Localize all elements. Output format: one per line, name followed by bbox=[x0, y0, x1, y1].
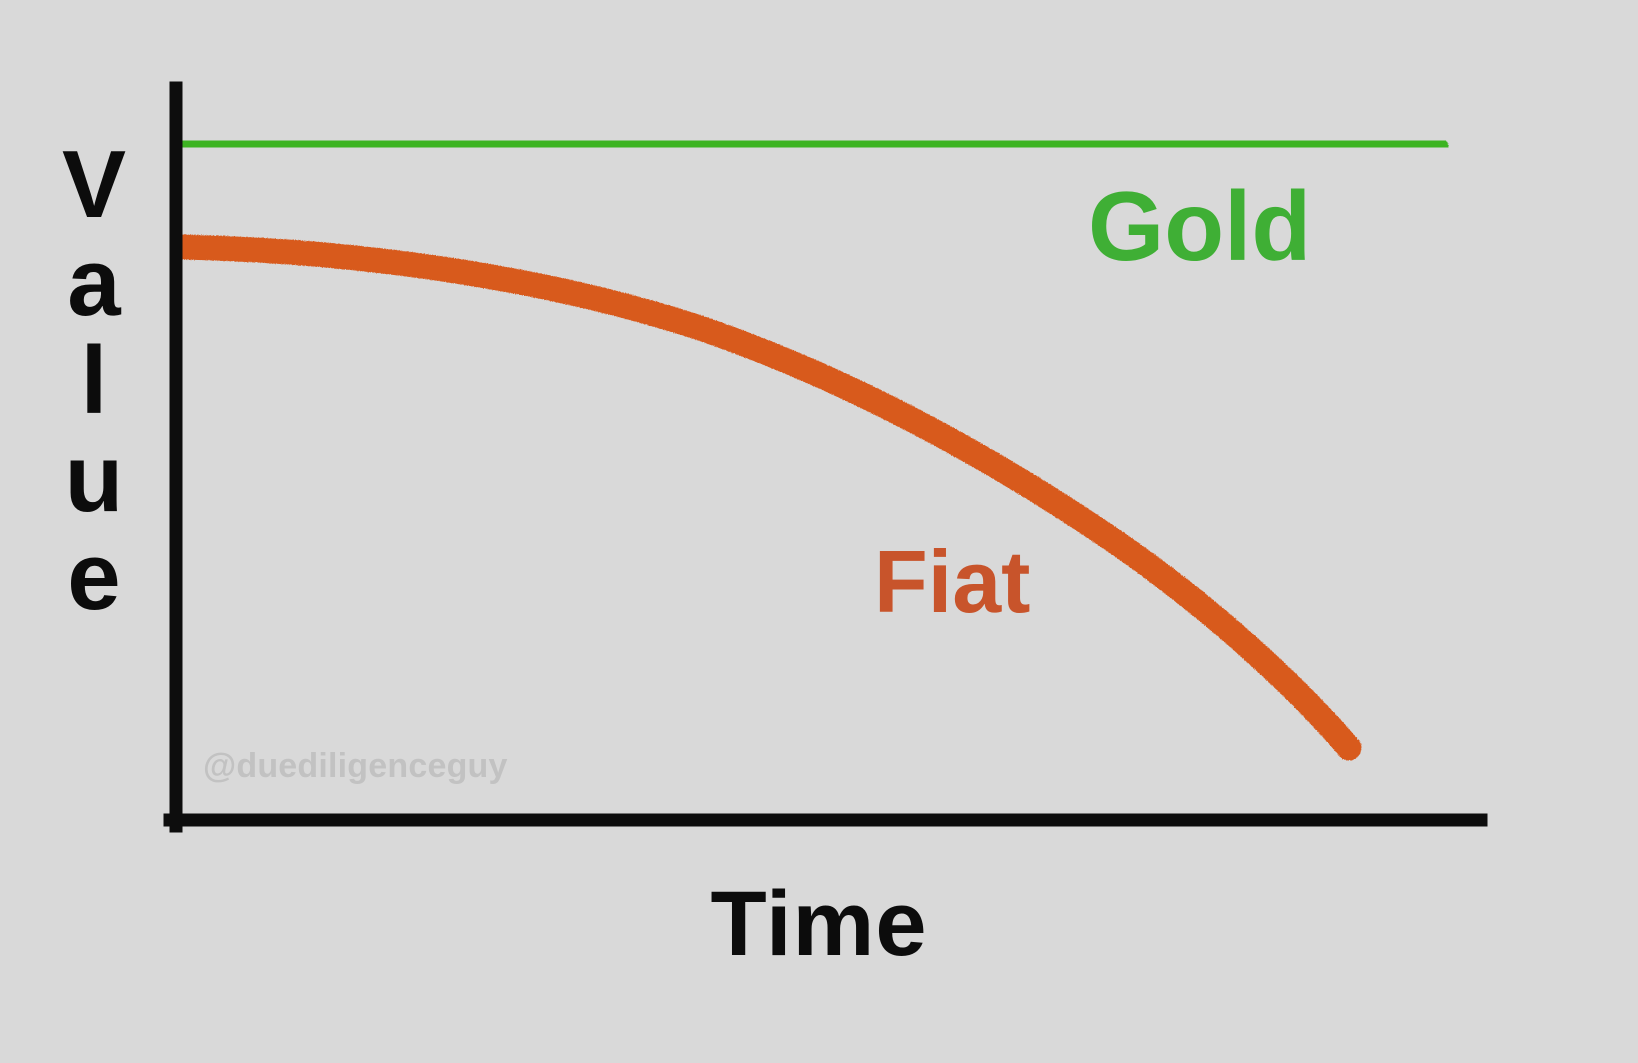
series-line-fiat bbox=[184, 247, 1349, 748]
y-axis-label-letter: u bbox=[65, 432, 124, 530]
y-axis-label-letter: V bbox=[62, 138, 126, 236]
series-label-fiat: Fiat bbox=[874, 531, 1030, 633]
y-axis-label-letter: e bbox=[67, 530, 120, 628]
y-axis-label: V a l u e bbox=[38, 138, 150, 628]
watermark-handle: @duediligenceguy bbox=[203, 747, 508, 786]
series-label-gold: Gold bbox=[1088, 170, 1311, 283]
y-axis-label-letter: l bbox=[81, 334, 108, 432]
x-axis-label: Time bbox=[0, 872, 1638, 977]
series-line-gold bbox=[184, 141, 1437, 147]
y-axis-label-letter: a bbox=[67, 236, 120, 334]
chart-container: V a l u e Time Gold Fiat @duediligencegu… bbox=[0, 0, 1638, 1063]
